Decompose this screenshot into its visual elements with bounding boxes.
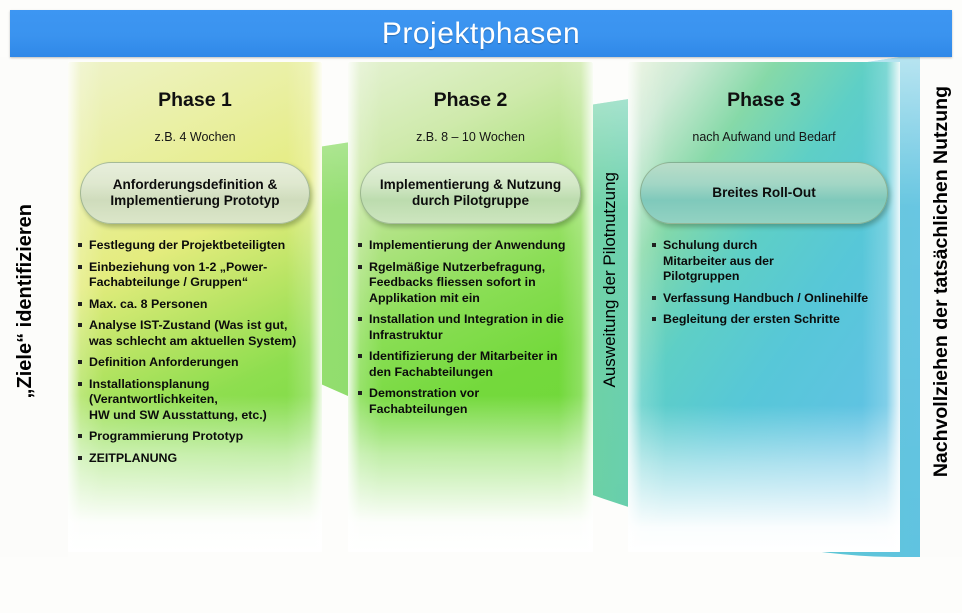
phase-1-title: Phase 1 (68, 89, 322, 112)
phase-1-duration: z.B. 4 Wochen (68, 130, 322, 144)
phase-3-bullet-list: Schulung durch Mitarbeiter aus der Pilot… (650, 238, 894, 334)
list-item: Definition Anforderungen (76, 355, 316, 371)
list-item: Installationsplanung (Verantwortlichkeit… (76, 377, 316, 424)
list-item: Demonstration vor Fachabteilungen (356, 386, 587, 417)
phase-1-milestone-pill[interactable]: Anforderungsdefinition & Implementierung… (80, 162, 310, 224)
list-item: Max. ca. 8 Personen (76, 297, 316, 313)
phase-3-milestone-pill[interactable]: Breites Roll-Out (640, 162, 888, 224)
list-item: Rgelmäßige Nutzerbefragung, Feedbacks fl… (356, 260, 587, 307)
diagram-canvas: Phase 1 z.B. 4 Wochen Anforderungsdefini… (0, 0, 962, 613)
phase-2-bullet-list: Implementierung der Anwendung Rgelmäßige… (356, 238, 587, 423)
phase-1-bullet-list: Festlegung der Projektbeteiligten Einbez… (76, 238, 316, 472)
list-item: Analyse IST-Zustand (Was ist gut, was sc… (76, 318, 316, 349)
phase-2-duration: z.B. 8 – 10 Wochen (348, 130, 593, 144)
page-title: Projektphasen (10, 17, 952, 51)
phase-3-duration: nach Aufwand und Bedarf (628, 130, 900, 144)
list-item: Einbeziehung von 1-2 „Power- Fachabteilu… (76, 260, 316, 291)
left-vertical-label: „Ziele“ identifizieren (14, 204, 37, 398)
phase-column-1: Phase 1 z.B. 4 Wochen Anforderungsdefini… (68, 62, 322, 552)
list-item: Implementierung der Anwendung (356, 238, 587, 254)
list-item: Verfassung Handbuch / Onlinehilfe (650, 291, 894, 307)
list-item: Installation und Integration in die Infr… (356, 312, 587, 343)
phase-2-milestone-pill[interactable]: Implementierung & Nutzung durch Pilotgru… (360, 162, 581, 224)
phase-2-title: Phase 2 (348, 89, 593, 112)
phase-3-title: Phase 3 (628, 89, 900, 112)
list-item: Identifizierung der Mitarbeiter in den F… (356, 349, 587, 380)
title-bar: Projektphasen (10, 10, 952, 57)
right-vertical-label: Nachvollziehen der tatsächlichen Nutzung (930, 86, 953, 477)
list-item: ZEITPLANUNG (76, 451, 316, 467)
list-item: Begleitung der ersten Schritte (650, 312, 894, 328)
phase-column-3: Phase 3 nach Aufwand und Bedarf Breites … (628, 62, 900, 552)
list-item: Festlegung der Projektbeteiligten (76, 238, 316, 254)
phase-column-2: Phase 2 z.B. 8 – 10 Wochen Implementieru… (348, 62, 593, 552)
list-item: Programmierung Prototyp (76, 429, 316, 445)
list-item: Schulung durch Mitarbeiter aus der Pilot… (650, 238, 894, 285)
middle-vertical-label: Ausweitung der Pilotnutzung (600, 172, 620, 387)
